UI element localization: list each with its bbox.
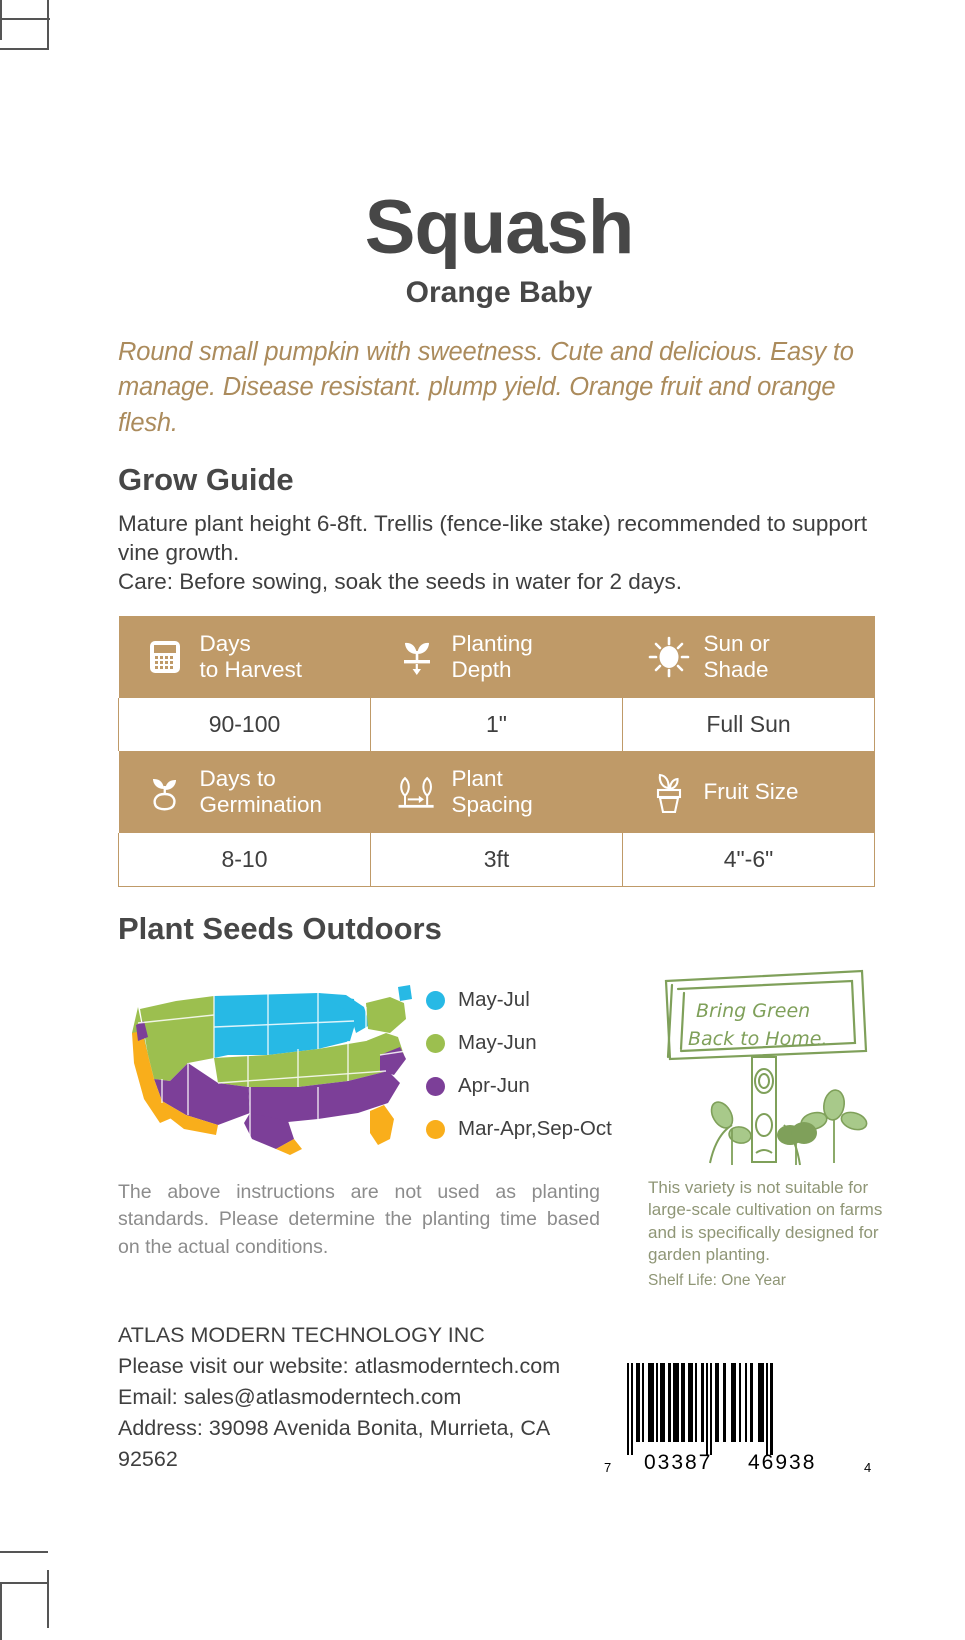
company-name: ATLAS MODERN TECHNOLOGY INC: [118, 1320, 602, 1351]
sprouting-seed-icon: [141, 768, 189, 816]
crop-mark-top-left-h: [0, 18, 50, 20]
header-label-sun-or-shade: Sun or Shade: [704, 631, 770, 682]
footer: ATLAS MODERN TECHNOLOGY INC Please visit…: [118, 1320, 880, 1475]
crop-mark-bottom-left-h: [0, 1551, 48, 1553]
legend-dot-icon: [426, 1077, 445, 1096]
header-cell-planting-depth: Planting Depth: [371, 616, 623, 698]
seedling-depth-icon: [393, 633, 441, 681]
legend-label: Apr-Jun: [458, 1074, 530, 1098]
calendar-icon: [141, 633, 189, 681]
barcode-right-group: 46938: [748, 1451, 816, 1475]
legend-item: May-Jul: [426, 979, 612, 1022]
grow-guide-line-1: Mature plant height 6-8ft. Trellis (fenc…: [118, 509, 880, 568]
header-label-fruit-size: Fruit Size: [704, 779, 799, 804]
company-contact-block: ATLAS MODERN TECHNOLOGY INC Please visit…: [118, 1320, 602, 1475]
variety-usage-note: This variety is not suitable for large-s…: [648, 1177, 888, 1267]
crop-mark-bottom-left2-h: [0, 1582, 48, 1584]
legend-dot-icon: [426, 1034, 445, 1053]
barcode-digits: 7 03387 46938 4: [602, 1453, 880, 1475]
usa-planting-zone-map: [118, 963, 418, 1163]
variety-name: Orange Baby: [118, 276, 880, 310]
map-column: May-Jul May-Jun Apr-Jun Mar-Apr,Sep-Oct: [118, 963, 638, 1262]
header-label-days-to-harvest: Days to Harvest: [200, 631, 303, 682]
grow-info-table: Days to Harvest Plan: [118, 616, 875, 887]
value-days-to-harvest: 90-100: [119, 698, 371, 751]
barcode: 7 03387 46938 4: [602, 1363, 880, 1475]
legend-item: Mar-Apr,Sep-Oct: [426, 1108, 612, 1151]
table-value-row-2: 8-10 3ft 4"-6": [119, 833, 875, 887]
legend-label: May-Jul: [458, 988, 530, 1012]
crop-mark-top-left-edge-h: [0, 48, 48, 50]
company-email[interactable]: Email: sales@atlasmoderntech.com: [118, 1382, 602, 1413]
header-cell-days-to-germination: Days to Germination: [119, 751, 371, 833]
header-cell-fruit-size: Fruit Size: [623, 751, 875, 833]
map-and-sign-area: May-Jul May-Jun Apr-Jun Mar-Apr,Sep-Oct: [118, 963, 880, 1290]
legend-label: May-Jun: [458, 1031, 537, 1055]
crop-mark-bottom-left-v: [47, 1570, 49, 1628]
value-sun-or-shade: Full Sun: [623, 698, 875, 751]
table-header-row-1: Days to Harvest Plan: [119, 616, 875, 698]
legend-item: Apr-Jun: [426, 1065, 612, 1108]
bring-green-sign-illustration: Bring Green Back to Home.: [648, 963, 888, 1173]
variety-description: Round small pumpkin with sweetness. Cute…: [118, 335, 880, 441]
map-legend: May-Jul May-Jun Apr-Jun Mar-Apr,Sep-Oct: [426, 979, 612, 1151]
company-address: Address: 39098 Avenida Bonita, Murrieta,…: [118, 1413, 602, 1475]
legend-dot-icon: [426, 991, 445, 1010]
legend-dot-icon: [426, 1120, 445, 1139]
header-label-plant-spacing: Plant Spacing: [452, 766, 533, 817]
table-value-row-1: 90-100 1" Full Sun: [119, 698, 875, 751]
grow-guide-heading: Grow Guide: [118, 462, 880, 498]
sign-column: Bring Green Back to Home.: [648, 963, 888, 1290]
sign-text-line-1: Bring Green: [696, 1000, 810, 1022]
crop-mark-top-left-v: [47, 0, 49, 50]
seed-packet-back: Squash Orange Baby Round small pumpkin w…: [118, 0, 880, 1475]
header-cell-days-to-harvest: Days to Harvest: [119, 616, 371, 698]
value-planting-depth: 1": [371, 698, 623, 751]
crop-mark-top-left2-v: [0, 0, 2, 40]
plant-seeds-outdoors-heading: Plant Seeds Outdoors: [118, 911, 880, 947]
sun-icon: [645, 633, 693, 681]
barcode-left-group: 03387: [644, 1451, 712, 1475]
header-label-days-to-germination: Days to Germination: [200, 766, 323, 817]
barcode-lead-digit: 7: [604, 1460, 613, 1475]
value-days-to-germination: 8-10: [119, 833, 371, 887]
value-plant-spacing: 3ft: [371, 833, 623, 887]
table-header-row-2: Days to Germination: [119, 751, 875, 833]
legend-item: May-Jun: [426, 1022, 612, 1065]
company-website[interactable]: Please visit our website: atlasmoderntec…: [118, 1351, 602, 1382]
crop-mark-bottom-left2-v: [0, 1582, 2, 1640]
grow-guide-line-2: Care: Before sowing, soak the seeds in w…: [118, 567, 880, 596]
barcode-bars: [627, 1363, 857, 1455]
shelf-life-text: Shelf Life: One Year: [648, 1272, 888, 1290]
planting-disclaimer: The above instructions are not used as p…: [118, 1179, 600, 1262]
potted-plant-icon: [645, 768, 693, 816]
plant-spacing-icon: [393, 768, 441, 816]
barcode-check-digit: 4: [864, 1460, 873, 1475]
sign-text-line-2: Back to Home.: [688, 1028, 827, 1050]
header-label-planting-depth: Planting Depth: [452, 631, 533, 682]
header-cell-sun-or-shade: Sun or Shade: [623, 616, 875, 698]
header-cell-plant-spacing: Plant Spacing: [371, 751, 623, 833]
value-fruit-size: 4"-6": [623, 833, 875, 887]
page-title: Squash: [118, 192, 880, 264]
legend-label: Mar-Apr,Sep-Oct: [458, 1117, 612, 1141]
